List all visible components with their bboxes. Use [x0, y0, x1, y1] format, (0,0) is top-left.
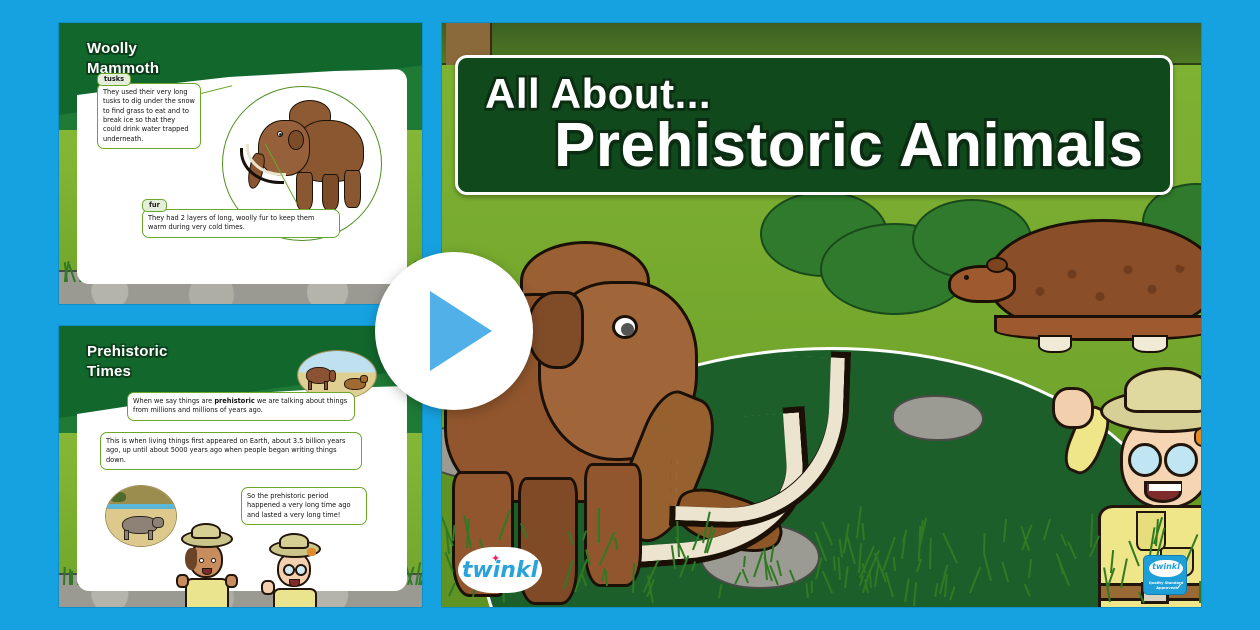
grass-blade	[69, 572, 71, 585]
slide-title: Prehistoric Times	[87, 342, 168, 382]
grass-blade	[969, 567, 981, 594]
grass-blade	[983, 533, 986, 554]
twinkl-star-icon: ✦	[491, 552, 500, 565]
grass-blade	[574, 559, 588, 593]
play-button[interactable]	[375, 252, 533, 410]
photo-woolly-rhino	[105, 485, 177, 547]
grass-blade	[844, 566, 849, 588]
grass-blade	[893, 557, 896, 571]
grass-blade	[832, 556, 835, 571]
callout-box-prehistoric-definition: When we say things are prehistoric we ar…	[127, 392, 355, 421]
grass-blade	[452, 525, 455, 541]
grass-blade	[734, 572, 741, 585]
callout-tag-tusks: tusks	[97, 73, 131, 86]
grass-blade	[1067, 541, 1077, 559]
grass-blade	[1028, 559, 1032, 578]
grass-blade	[1024, 584, 1031, 597]
explorer-boy-glasses-left	[1128, 443, 1162, 477]
grass-blade	[563, 560, 574, 589]
twinkl-logo-main: ✦ twinkl	[458, 547, 542, 593]
grass-blade	[520, 523, 528, 538]
grass-blade	[691, 562, 696, 572]
glyptodon-illustration	[942, 213, 1202, 383]
explorer-boy-hat-crown	[1124, 367, 1202, 413]
glyptodon-shell-rim	[994, 315, 1202, 341]
glyptodon-back-feet	[1132, 335, 1168, 353]
explorer-boy-hair	[1194, 427, 1202, 447]
grass-blade	[913, 582, 917, 606]
grass-blade	[885, 572, 894, 597]
grass-blade	[1002, 561, 1010, 581]
grass-blade	[789, 569, 796, 582]
play-triangle-icon	[430, 291, 492, 371]
callout-box-prehistoric-duration: So the prehistoric period happened a ver…	[241, 487, 367, 525]
grass-blade	[837, 557, 840, 580]
main-slide-preview[interactable]: All About... Prehistoric Animals ✦ twink…	[441, 22, 1202, 608]
grass-blade	[929, 538, 932, 569]
grass-blade	[1043, 519, 1051, 540]
grass-blade	[822, 570, 833, 593]
mammoth-eye	[277, 131, 283, 137]
grass-blade	[444, 552, 453, 573]
callout-box-fur: They had 2 layers of long, woolly fur to…	[142, 209, 340, 238]
slide-thumbnail-woolly-mammoth[interactable]: Woolly Mammoth	[58, 22, 423, 305]
grass-blade	[806, 583, 810, 598]
twinkl-quality-standard-badge: twinkl Quality Standard Approved ✓	[1143, 555, 1187, 595]
grass-blade	[1090, 514, 1093, 547]
grass-blade	[743, 556, 746, 567]
callout-box-earth-timeline: This is when living things first appeare…	[100, 432, 362, 470]
glyptodon-head	[948, 265, 1016, 303]
explorer-child-girl	[179, 524, 251, 608]
grass-blade	[742, 568, 749, 582]
grass-blade	[776, 560, 782, 576]
glasses-right-lens	[295, 564, 307, 576]
main-title-line-2: Prehistoric Animals	[554, 110, 1144, 181]
grass-blade	[718, 584, 723, 598]
scene-foreground-grass	[442, 487, 1202, 607]
grass-blade	[770, 545, 775, 562]
grass-blade	[821, 521, 832, 544]
explorer-boy-glasses-right	[1164, 443, 1198, 477]
slide-thumbnail-column: Woolly Mammoth	[58, 22, 423, 608]
grass-blade	[944, 574, 948, 597]
grass-blade	[943, 533, 959, 564]
callout-tag-fur: fur	[142, 199, 167, 212]
grass-blade	[582, 530, 587, 540]
grass-blade	[874, 562, 880, 587]
grass-blade	[904, 578, 910, 602]
glyptodon-ear	[986, 257, 1008, 273]
glyptodon-eye	[964, 275, 969, 280]
grass-blade	[861, 523, 865, 540]
callout-text-emphasis: prehistoric	[214, 397, 254, 405]
grass-blade	[916, 559, 922, 573]
mammoth-eye-large	[612, 315, 638, 339]
slide-thumbnail-prehistoric-times[interactable]: Prehistoric Times When we say things are…	[58, 325, 423, 608]
grass-blade	[815, 557, 822, 579]
glyptodon-front-feet	[1038, 335, 1072, 353]
woolly-mammoth-illustration	[244, 98, 374, 223]
grass-blade	[1056, 553, 1070, 586]
grass-blade	[1003, 519, 1007, 542]
grass-blade	[753, 552, 763, 577]
grass-blade	[934, 583, 939, 598]
grass-blade	[1061, 534, 1068, 546]
grass-blade	[498, 510, 511, 541]
badge-wordmark: twinkl	[1144, 562, 1187, 571]
checkmark-icon: ✓	[1175, 582, 1183, 593]
grass-blade	[675, 536, 687, 559]
callout-text-part-1: When we say things are	[133, 397, 214, 405]
glyptodon-shell-markings	[1004, 253, 1202, 323]
grass-blade	[1120, 559, 1128, 589]
main-title-plaque: All About... Prehistoric Animals	[455, 55, 1173, 195]
callout-box-tusks: They used their very long tusks to dig u…	[97, 83, 201, 149]
explorer-boy-waving-hand	[1052, 387, 1094, 429]
grass-blade	[598, 508, 600, 543]
grass-blade	[1128, 541, 1140, 567]
grass-blade	[856, 506, 862, 538]
grass-blade	[1199, 581, 1201, 603]
grass-blade	[845, 533, 856, 565]
grass-blade	[599, 531, 615, 564]
grass-blade	[68, 264, 76, 283]
grass-blade	[983, 553, 992, 581]
grass-blade	[692, 532, 701, 550]
explorer-child-boy	[267, 534, 339, 608]
glasses-left-lens	[283, 564, 295, 576]
grass-blade	[448, 583, 456, 597]
mammoth-ear	[526, 291, 584, 369]
grass-blade	[568, 531, 574, 545]
grass-blade	[605, 571, 608, 586]
grass-blade	[949, 587, 955, 601]
grass-blade	[839, 539, 843, 557]
grass-blade	[1107, 568, 1115, 587]
grass-blade	[632, 563, 635, 593]
grass-blade	[811, 581, 813, 593]
grass-blade	[614, 537, 618, 550]
grass-blade	[63, 567, 66, 585]
grass-blade	[671, 545, 676, 569]
